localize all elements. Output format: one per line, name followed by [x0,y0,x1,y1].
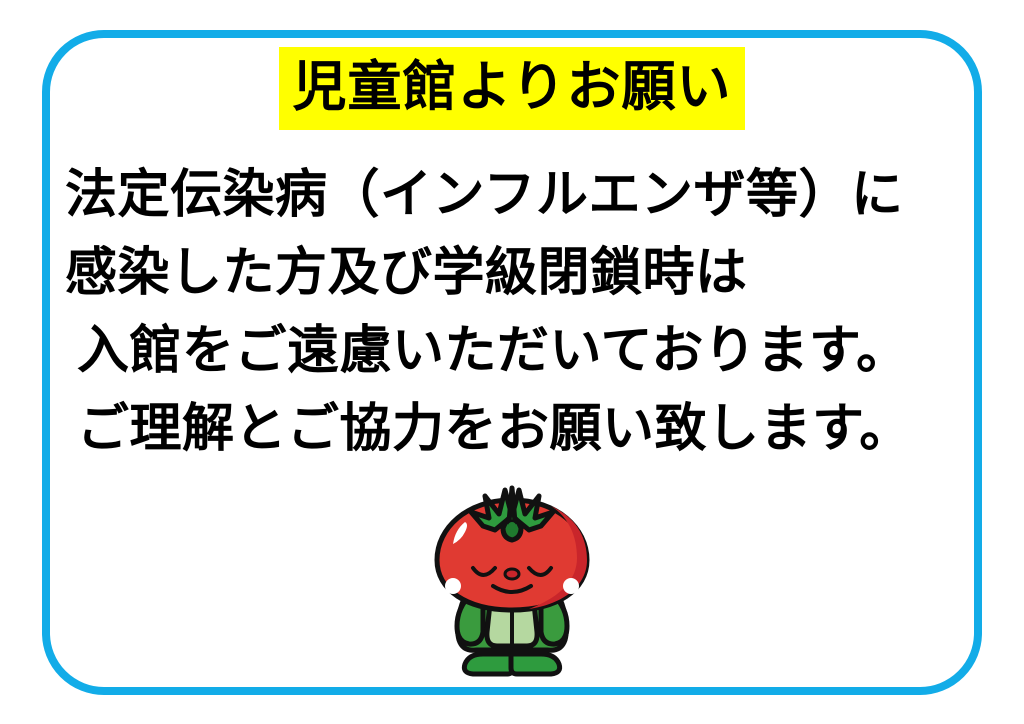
notice-body-text: 法定伝染病（インフルエンザ等）に 感染した方及び学級閉鎖時は 入館をご遠慮いただ… [63,156,883,468]
body-line-4: ご理解とご協力をお願い致します。 [63,390,883,468]
tomato-mascot-icon [421,482,603,687]
page-title: 児童館よりお願い [279,47,746,130]
body-line-3: 入館をご遠慮いただいております。 [63,312,883,390]
title-row: 児童館よりお願い [0,47,1024,130]
body-line-2: 感染した方及び学級閉鎖時は [63,234,883,312]
body-line-1: 法定伝染病（インフルエンザ等）に [63,156,883,234]
